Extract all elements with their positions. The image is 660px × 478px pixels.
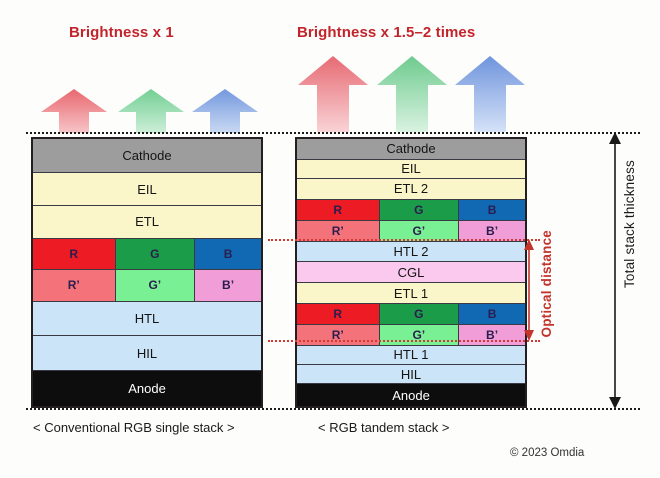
layer-eml-rgb-prime: R’ G’ B’ (33, 270, 261, 302)
eml-cell-red-prime: R’ (33, 270, 116, 301)
eml-cell-blue: B (195, 239, 261, 268)
eml-cell-label: G’ (148, 278, 161, 292)
total-stack-thickness-label: Total stack thickness (622, 160, 637, 288)
eml-cell-green-prime: G’ (380, 221, 460, 241)
bottom-stack-guideline (26, 408, 640, 410)
layer-label: EIL (137, 183, 157, 196)
rgb-tandem-stack: Cathode EIL ETL 2 R G B R’ G’ B’ HTL 2 C… (295, 137, 527, 408)
eml-cell-green: G (116, 239, 196, 268)
eml-cell-blue: B (459, 304, 525, 324)
eml-cell-green: G (380, 304, 460, 324)
layer-eil: EIL (297, 160, 525, 179)
layer-eml-rgb-bottom: R G B (297, 304, 525, 325)
layer-label: Cathode (122, 149, 171, 162)
eml-cell-green-prime: G’ (116, 270, 196, 301)
total-stack-thickness-arrow (608, 132, 622, 409)
top-stack-guideline (26, 132, 640, 134)
layer-eml-rgb-prime-bottom: R’ G’ B’ (297, 325, 525, 346)
layer-etl-1: ETL 1 (297, 283, 525, 304)
eml-cell-label: R (69, 247, 78, 261)
copyright-notice: © 2023 Omdia (510, 447, 584, 459)
layer-label: CGL (398, 266, 425, 279)
eml-cell-red-prime: R’ (297, 221, 380, 241)
eml-cell-blue-prime: B’ (459, 221, 525, 241)
eml-cell-label: G’ (412, 224, 425, 238)
eml-cell-label: R (333, 203, 342, 217)
layer-label: ETL (135, 215, 159, 228)
eml-cell-label: R’ (332, 224, 344, 238)
green-emission-arrow (377, 56, 447, 132)
layer-label: ETL 2 (394, 182, 428, 195)
optical-distance-bottom-guideline (268, 340, 540, 342)
layer-label: ETL 1 (394, 287, 428, 300)
eml-cell-label: R (333, 307, 342, 321)
layer-htl-1: HTL 1 (297, 346, 525, 365)
blue-emission-arrow (192, 89, 258, 133)
optical-distance-arrow (523, 239, 535, 341)
eml-cell-blue: B (459, 200, 525, 220)
eml-cell-blue-prime: B’ (195, 270, 261, 301)
layer-etl: ETL (33, 206, 261, 239)
conventional-rgb-single-stack: Cathode EIL ETL R G B R’ G’ B’ HTL HIL A… (31, 137, 263, 408)
optical-distance-label: Optical distance (539, 230, 554, 337)
layer-cathode: Cathode (297, 139, 525, 160)
red-emission-arrow (298, 56, 368, 132)
left-stack-title: Brightness x 1 (69, 24, 174, 41)
layer-label: Cathode (386, 142, 435, 155)
eml-cell-label: B (488, 307, 497, 321)
eml-cell-label: R’ (68, 278, 80, 292)
layer-htl: HTL (33, 302, 261, 336)
layer-label: HTL 2 (394, 245, 429, 258)
eml-cell-label: B’ (486, 224, 498, 238)
layer-label: Anode (392, 389, 430, 402)
green-emission-arrow (118, 89, 184, 133)
layer-label: HIL (401, 368, 421, 381)
layer-anode: Anode (297, 384, 525, 406)
layer-cathode: Cathode (33, 139, 261, 173)
layer-label: HTL 1 (394, 348, 429, 361)
eml-cell-red: R (33, 239, 116, 268)
layer-hil: HIL (297, 365, 525, 384)
layer-hil: HIL (33, 336, 261, 370)
eml-cell-green: G (380, 200, 460, 220)
eml-cell-red: R (297, 304, 380, 324)
layer-label: Anode (128, 382, 166, 395)
layer-cgl: CGL (297, 262, 525, 283)
eml-cell-red: R (297, 200, 380, 220)
left-stack-caption: < Conventional RGB single stack > (33, 420, 235, 435)
eml-cell-label: B (224, 247, 233, 261)
red-emission-arrow (41, 89, 107, 133)
layer-label: HTL (135, 312, 160, 325)
layer-etl-2: ETL 2 (297, 179, 525, 200)
layer-eil: EIL (33, 173, 261, 205)
layer-label: HIL (137, 347, 157, 360)
eml-cell-label: G (414, 203, 423, 217)
layer-htl-2: HTL 2 (297, 242, 525, 263)
optical-distance-top-guideline (268, 239, 540, 241)
blue-emission-arrow (455, 56, 525, 132)
eml-cell-label: B’ (222, 278, 234, 292)
layer-label: EIL (401, 162, 421, 175)
right-stack-caption: < RGB tandem stack > (318, 420, 450, 435)
layer-eml-rgb-top: R G B (297, 200, 525, 221)
layer-anode: Anode (33, 371, 261, 406)
layer-eml-rgb: R G B (33, 239, 261, 269)
right-stack-title: Brightness x 1.5–2 times (297, 24, 475, 41)
eml-cell-label: G (414, 307, 423, 321)
eml-cell-label: G (150, 247, 159, 261)
eml-cell-label: B (488, 203, 497, 217)
diagram-canvas: Brightness x 1 Brightness x 1.5–2 times (0, 0, 660, 478)
